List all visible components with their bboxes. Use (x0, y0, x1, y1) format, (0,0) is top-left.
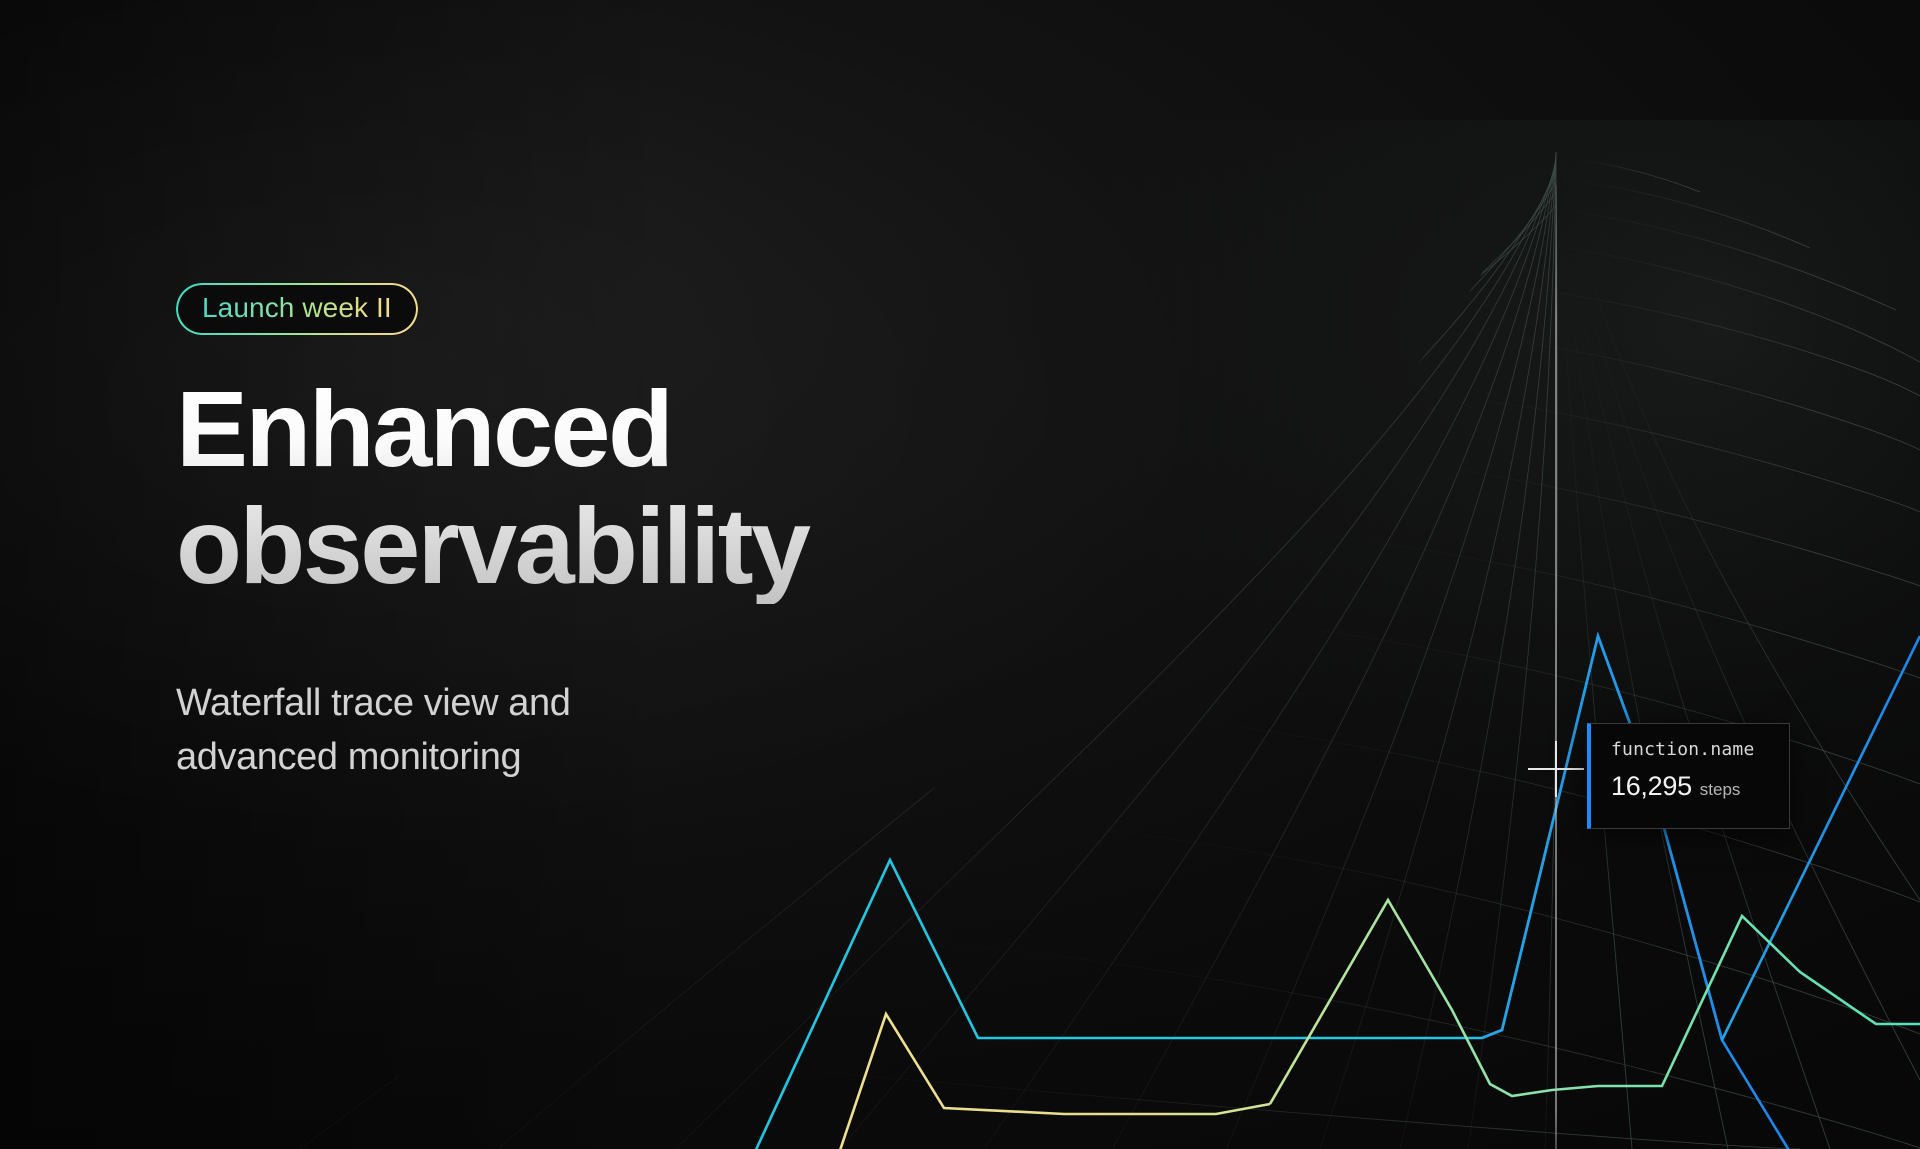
series-blue-trace-right (1722, 636, 1920, 1040)
hero-banner: function.name 16,295 steps Launch week I… (0, 0, 1920, 1149)
series-yellow-trace (830, 1014, 1270, 1149)
page-subtitle-line-1: Waterfall trace view and (176, 677, 976, 731)
page-subtitle: Waterfall trace view and advanced monito… (176, 677, 976, 785)
hero-content: Launch week II Enhanced observability Wa… (176, 283, 976, 823)
chart-tooltip: function.name 16,295 steps (1587, 723, 1790, 829)
series-mint-trace (1270, 900, 1920, 1104)
tooltip-value-row: 16,295 steps (1611, 773, 1789, 800)
series-blue-trace (1482, 636, 1790, 1149)
tooltip-title: function.name (1611, 741, 1789, 759)
launch-week-badge[interactable]: Launch week II (176, 283, 418, 335)
page-subtitle-line-2: advanced monitoring (176, 731, 976, 785)
crosshair-marker-icon (1528, 741, 1584, 797)
page-title-line-2: observability (176, 488, 976, 605)
launch-week-badge-label: Launch week II (202, 292, 392, 323)
tooltip-unit: steps (1700, 781, 1741, 798)
crosshair-vertical-line (1555, 185, 1557, 1149)
tooltip-value: 16,295 (1611, 773, 1692, 800)
page-title-line-1: Enhanced (176, 371, 976, 488)
page-title: Enhanced observability (176, 371, 976, 604)
